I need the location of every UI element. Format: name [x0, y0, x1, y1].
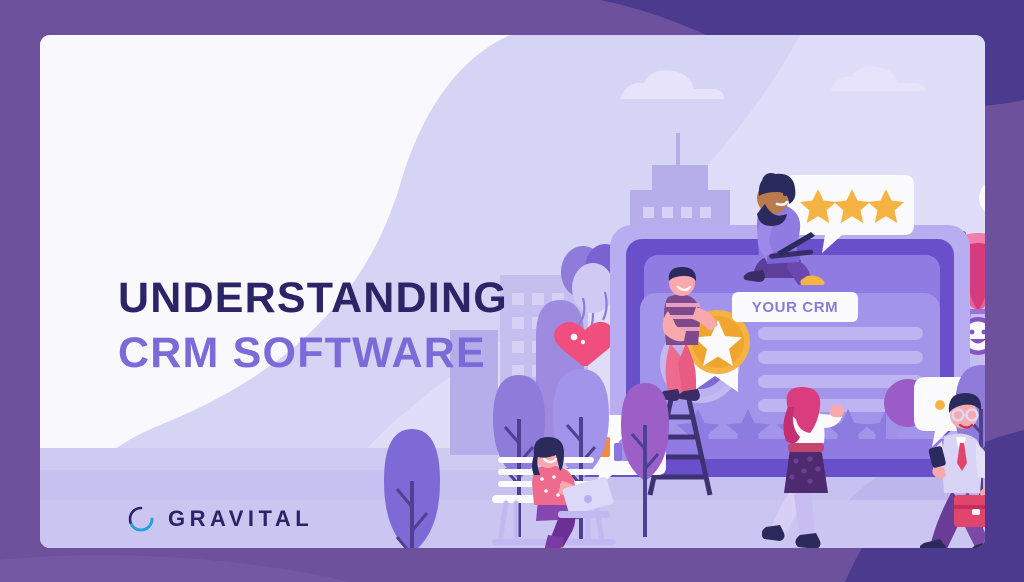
crm-screen-label-text: YOUR CRM	[752, 299, 838, 316]
headline-line-2: CRM SOFTWARE	[118, 328, 508, 379]
brand-logo: GRAVITAL	[128, 506, 313, 532]
crm-screen-label-box: YOUR CRM	[732, 292, 858, 322]
woman-walking	[762, 387, 852, 548]
woman-on-bench	[518, 437, 628, 548]
businessman	[920, 393, 985, 548]
tree-foreground	[372, 423, 452, 548]
page-title: UNDERSTANDING CRM SOFTWARE	[118, 273, 508, 378]
banner-canvas: YOUR CRM	[0, 0, 1024, 582]
clouds	[580, 55, 980, 135]
ring-icon	[128, 506, 154, 532]
brand-name: GRAVITAL	[168, 506, 313, 532]
banner-card: YOUR CRM	[40, 35, 985, 548]
headline-line-1: UNDERSTANDING	[118, 273, 508, 324]
